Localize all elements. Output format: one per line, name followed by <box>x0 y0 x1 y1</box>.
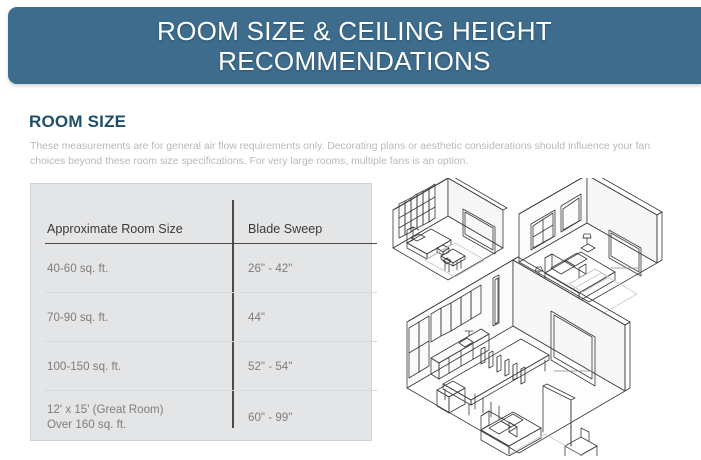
section-description: These measurements are for general air f… <box>30 139 675 169</box>
table-row: 12' x 15' (Great Room) Over 160 sq. ft. … <box>45 391 377 444</box>
room-size-table: Approximate Room Size Blade Sweep 40-60 … <box>45 200 377 443</box>
header-banner: ROOM SIZE & CEILING HEIGHT RECOMMENDATIO… <box>8 7 701 84</box>
isometric-room-illustration <box>385 178 697 456</box>
table-row: 70-90 sq. ft. 44" <box>45 293 377 342</box>
column-header-blade-sweep: Blade Sweep <box>232 200 377 244</box>
banner-title: ROOM SIZE & CEILING HEIGHT RECOMMENDATIO… <box>117 16 592 76</box>
cell-room-size: 70-90 sq. ft. <box>45 293 232 342</box>
table-header-row: Approximate Room Size Blade Sweep <box>45 200 377 244</box>
column-header-room-size: Approximate Room Size <box>45 200 232 244</box>
table-row: 100-150 sq. ft. 52" - 54" <box>45 342 377 391</box>
cell-blade-sweep: 60" - 99" <box>232 391 377 444</box>
cell-room-size: 12' x 15' (Great Room) Over 160 sq. ft. <box>45 391 232 444</box>
cell-room-size: 100-150 sq. ft. <box>45 342 232 391</box>
cell-blade-sweep: 44" <box>232 293 377 342</box>
section-heading: ROOM SIZE <box>29 112 126 132</box>
cell-blade-sweep: 52" - 54" <box>232 342 377 391</box>
table-inner: Approximate Room Size Blade Sweep 40-60 … <box>45 200 359 428</box>
cell-room-size: 40-60 sq. ft. <box>45 244 232 293</box>
room-size-table-panel: Approximate Room Size Blade Sweep 40-60 … <box>30 183 372 441</box>
cell-blade-sweep: 26" - 42" <box>232 244 377 293</box>
table-row: 40-60 sq. ft. 26" - 42" <box>45 244 377 293</box>
room-small-bedroom <box>393 178 507 280</box>
